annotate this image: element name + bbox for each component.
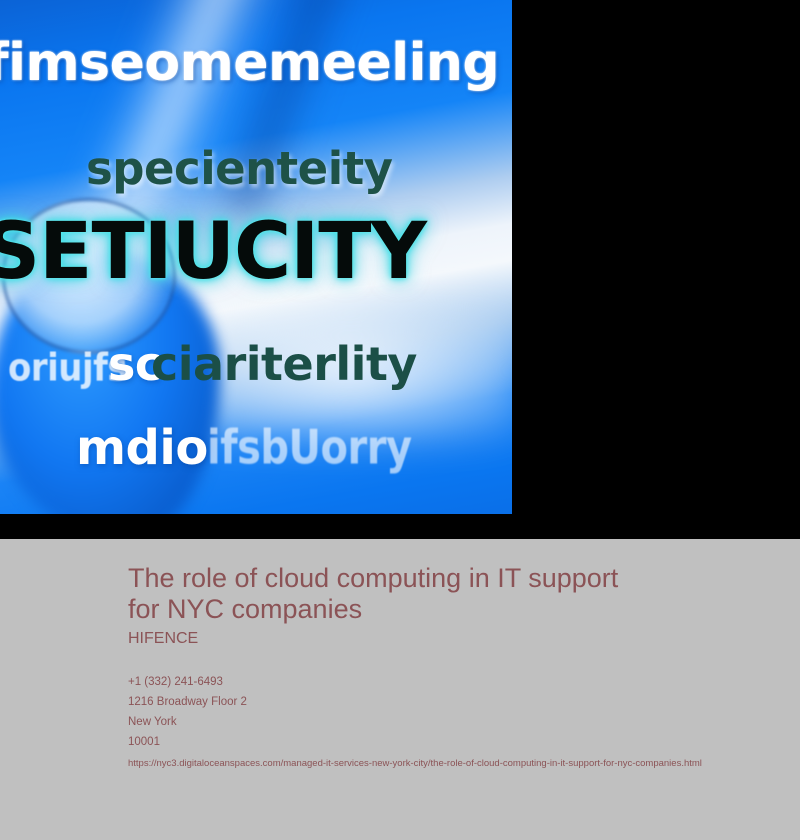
hero-word-setiucity: SETIUCITY <box>0 207 426 297</box>
hero-image: fimseomemeeling specienteity SETIUCITY o… <box>0 0 512 514</box>
info-panel-content: The role of cloud computing in IT suppor… <box>128 539 800 773</box>
contact-city: New York <box>128 712 800 732</box>
contact-block: +1 (332) 241-6493 1216 Broadway Floor 2 … <box>128 648 800 752</box>
hero-word-specienteity: specienteity <box>86 142 392 195</box>
hero-word-ciariterlity: ciariterlity <box>151 337 417 391</box>
hero-image-block: fimseomemeeling specienteity SETIUCITY o… <box>0 0 800 539</box>
page-root: fimseomemeeling specienteity SETIUCITY o… <box>0 0 800 840</box>
hero-word-ifsbuorry: ifsbUorry <box>207 421 412 475</box>
source-url[interactable]: https://nyc3.digitaloceanspaces.com/mana… <box>128 752 788 773</box>
page-title: The role of cloud computing in IT suppor… <box>128 539 628 625</box>
brand-name: HIFENCE <box>128 625 800 648</box>
contact-zip: 10001 <box>128 732 800 752</box>
info-panel: The role of cloud computing in IT suppor… <box>0 539 800 840</box>
contact-street: 1216 Broadway Floor 2 <box>128 692 800 712</box>
hero-word-mdio: mdio <box>76 420 208 476</box>
hero-word-fimseomemeeling: fimseomemeeling <box>0 33 499 93</box>
contact-phone: +1 (332) 241-6493 <box>128 672 800 692</box>
